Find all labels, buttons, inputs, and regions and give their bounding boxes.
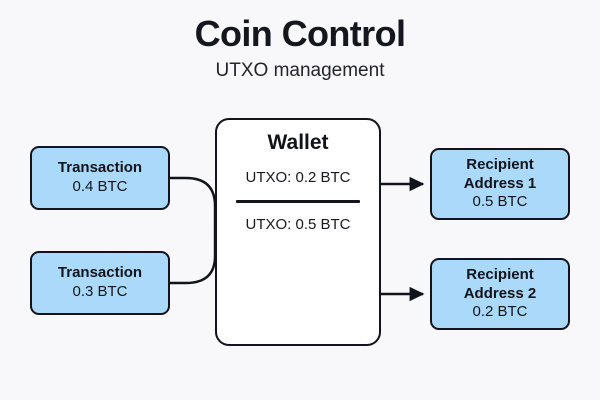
transaction-2-amount: 0.3 BTC xyxy=(72,283,127,302)
wallet-utxo-2[interactable]: UTXO: 0.5 BTC xyxy=(245,216,350,235)
recipient-2-amount: 0.2 BTC xyxy=(472,303,527,322)
recipient-1-label-line1: Recipient xyxy=(466,156,534,174)
node-recipient-address-2[interactable]: Recipient Address 2 0.2 BTC xyxy=(430,258,570,330)
recipient-1-label-line2: Address 1 xyxy=(464,175,537,193)
transaction-1-amount: 0.4 BTC xyxy=(72,178,127,197)
connector-transaction-1-to-wallet xyxy=(170,178,215,232)
node-wallet[interactable]: Wallet UTXO: 0.2 BTC UTXO: 0.5 BTC xyxy=(215,118,381,346)
recipient-1-amount: 0.5 BTC xyxy=(472,193,527,212)
recipient-2-label-line2: Address 2 xyxy=(464,285,537,303)
wallet-divider xyxy=(236,200,360,203)
recipient-2-label-line1: Recipient xyxy=(466,266,534,284)
header: Coin Control UTXO management xyxy=(0,14,600,82)
transaction-2-label: Transaction xyxy=(58,264,142,282)
node-transaction-1[interactable]: Transaction 0.4 BTC xyxy=(30,146,170,210)
diagram-canvas: Coin Control UTXO management Transaction… xyxy=(0,0,600,400)
connector-transaction-2-to-wallet xyxy=(170,232,215,283)
node-transaction-2[interactable]: Transaction 0.3 BTC xyxy=(30,251,170,315)
transaction-1-label: Transaction xyxy=(58,159,142,177)
node-recipient-address-1[interactable]: Recipient Address 1 0.5 BTC xyxy=(430,148,570,220)
wallet-utxo-1[interactable]: UTXO: 0.2 BTC xyxy=(245,169,350,188)
page-subtitle: UTXO management xyxy=(0,60,600,83)
wallet-heading: Wallet xyxy=(267,130,328,155)
page-title: Coin Control xyxy=(0,14,600,54)
